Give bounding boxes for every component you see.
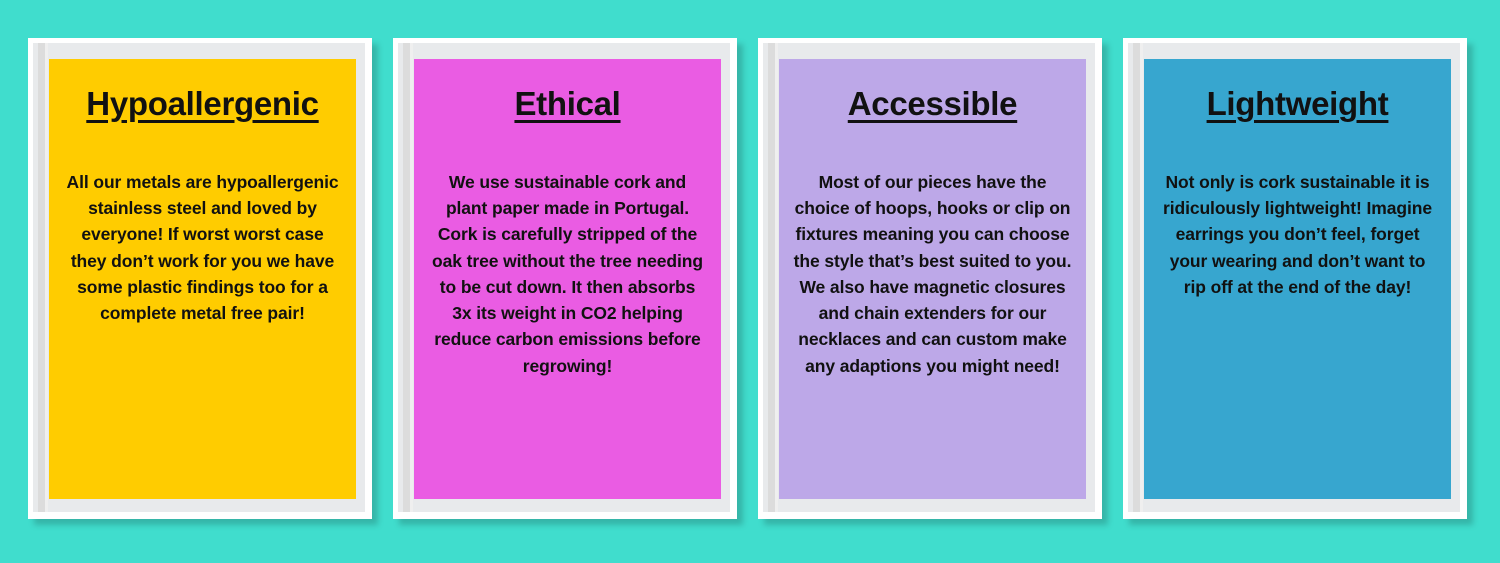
card-title: Hypoallergenic (63, 85, 342, 123)
card-body-text: All our metals are hypoallergenic stainl… (63, 169, 342, 327)
feature-card-ethical[interactable]: Ethical We use sustainable cork and plan… (393, 38, 737, 519)
card-spine-highlight (1140, 43, 1143, 512)
card-spine-highlight (410, 43, 413, 512)
card-panel: Hypoallergenic All our metals are hypoal… (49, 59, 356, 499)
card-body-text: Most of our pieces have the choice of ho… (793, 169, 1072, 379)
card-spine-highlight (775, 43, 778, 512)
card-panel: Ethical We use sustainable cork and plan… (414, 59, 721, 499)
title-body-spacer (793, 123, 1072, 169)
feature-card-lightweight[interactable]: Lightweight Not only is cork sustainable… (1123, 38, 1467, 519)
feature-cards-board: Hypoallergenic All our metals are hypoal… (0, 0, 1500, 563)
feature-card-accessible[interactable]: Accessible Most of our pieces have the c… (758, 38, 1102, 519)
card-spine-highlight (45, 43, 48, 512)
title-body-spacer (1158, 123, 1437, 169)
title-body-spacer (63, 123, 342, 169)
card-title: Lightweight (1158, 85, 1437, 123)
title-body-spacer (428, 123, 707, 169)
card-body-text: We use sustainable cork and plant paper … (428, 169, 707, 379)
card-panel: Accessible Most of our pieces have the c… (779, 59, 1086, 499)
cards-row: Hypoallergenic All our metals are hypoal… (0, 0, 1500, 563)
card-spine-stripe (1133, 43, 1140, 512)
card-title: Ethical (428, 85, 707, 123)
card-spine-stripe (768, 43, 775, 512)
feature-card-hypoallergenic[interactable]: Hypoallergenic All our metals are hypoal… (28, 38, 372, 519)
card-title: Accessible (793, 85, 1072, 123)
card-spine-stripe (403, 43, 410, 512)
card-panel: Lightweight Not only is cork sustainable… (1144, 59, 1451, 499)
card-body-text: Not only is cork sustainable it is ridic… (1158, 169, 1437, 300)
card-spine-stripe (38, 43, 45, 512)
